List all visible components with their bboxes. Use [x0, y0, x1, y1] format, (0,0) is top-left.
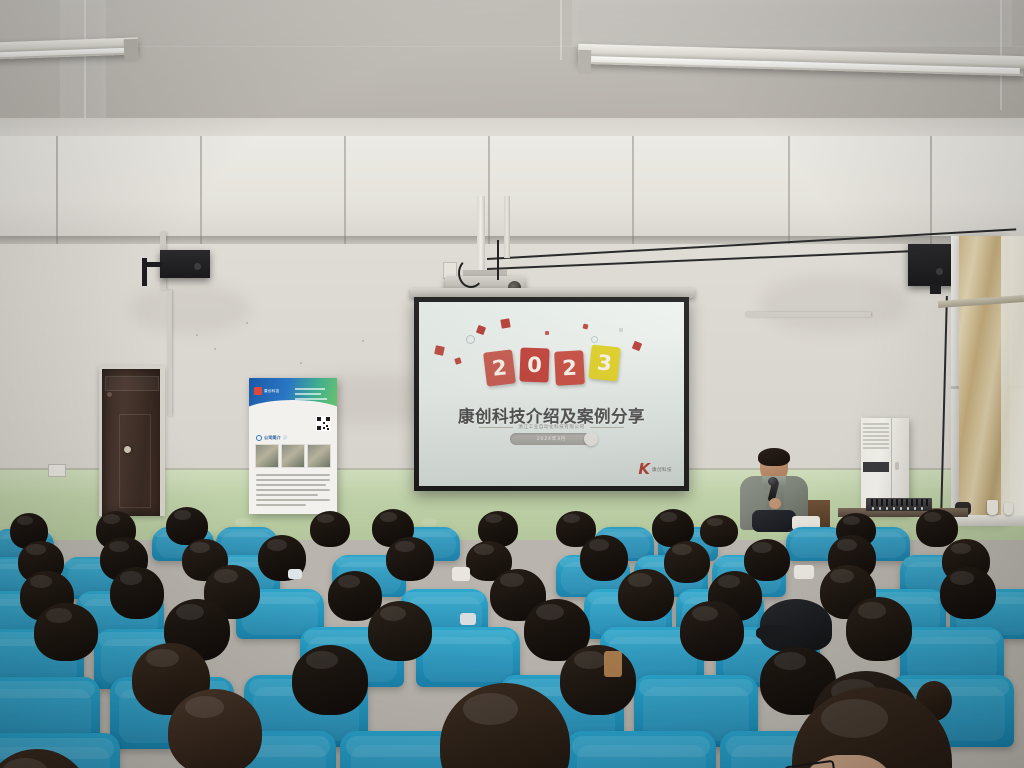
presenter-hair: [758, 448, 790, 466]
door-handle[interactable]: [124, 446, 131, 453]
ac-display-panel: [863, 462, 889, 472]
cap-brim: [756, 625, 794, 641]
year-tile-3: 3: [588, 345, 620, 382]
audience-head: [618, 569, 674, 621]
tube-left-end-cap: [124, 39, 139, 60]
banner-text-line: [256, 479, 330, 481]
wall-socket-left[interactable]: [48, 464, 66, 477]
logo-k-icon: K: [638, 462, 650, 477]
projection-screen-surface: 2 0 2 3 康创科技介绍及案例分享 浙江工业自动化科技有限公司 2024年3…: [419, 302, 684, 486]
projection-screen-frame: 2 0 2 3 康创科技介绍及案例分享 浙江工业自动化科技有限公司 2024年3…: [414, 297, 689, 491]
banner-photo-strip: [255, 444, 331, 468]
audience-head: [680, 601, 744, 661]
lecture-hall-photo: 2 0 2 3 康创科技介绍及案例分享 浙江工业自动化科技有限公司 2024年3…: [0, 0, 1024, 768]
confetti-square: [632, 341, 642, 351]
door-transom-panel: [105, 376, 159, 391]
audience-head: [916, 509, 958, 547]
audience-head: [940, 567, 996, 619]
slide-subtitle: 浙江工业自动化科技有限公司: [518, 424, 584, 430]
door-inset-panel: [119, 414, 151, 508]
banner-text-line: [256, 489, 330, 491]
chevron-right-icon: 〉〉〉: [283, 435, 289, 441]
banner-text-line: [256, 499, 330, 501]
confetti-square: [476, 325, 486, 335]
tube-right-end-cap: [578, 50, 592, 74]
wall-speaker-left: [160, 250, 210, 278]
audience-head: [34, 603, 98, 661]
audience-head: [110, 567, 164, 619]
subtitle-rule-left: [479, 427, 513, 428]
speaker-right-bracket: [930, 284, 941, 294]
slide-pill-knob: [584, 432, 598, 446]
banner-bullet-icon: [256, 435, 262, 441]
confetti-square: [500, 318, 510, 328]
audience-clothing-light: [460, 613, 476, 625]
audience-head: [846, 597, 912, 661]
microphone-head: [768, 477, 778, 486]
audience-head: [168, 689, 262, 768]
ac-vent-grill: [863, 423, 889, 449]
wall-speaker-right: [908, 244, 956, 286]
audience-clothing-light: [288, 569, 302, 579]
subtitle-rule-right: [590, 427, 624, 428]
banner-accent-line: [295, 388, 325, 390]
banner-photo: [307, 444, 331, 468]
projector-cable-loop: [458, 258, 484, 288]
banner-text-line: [256, 474, 330, 476]
banner-text-line: [256, 494, 318, 496]
confetti-circle: [466, 335, 475, 344]
banner-logo-text: 康创科技: [264, 389, 280, 394]
slide-subtitle-row: 浙江工业自动化科技有限公司: [419, 424, 684, 430]
wall-rail-right: [745, 312, 871, 317]
banner-section-title: 公司简介 〉〉〉: [256, 435, 289, 441]
ceiling-pipe: [504, 196, 510, 258]
banner-accent-line: [295, 393, 321, 395]
audience-head: [310, 511, 350, 547]
audience-head: [386, 537, 434, 581]
banner-photo: [281, 444, 305, 468]
audience-head: [700, 515, 738, 547]
confetti-square: [619, 328, 623, 332]
confetti-square: [545, 331, 549, 335]
wall-conduit-left: [167, 290, 172, 416]
audience-head: [664, 541, 710, 583]
confetti-square: [434, 345, 445, 356]
slide-company-logo: K 康创科技: [638, 462, 672, 477]
banner-text-line: [256, 484, 326, 486]
banner-logo-mark-icon: [254, 387, 262, 395]
slide-date-text: 2024年3月: [537, 436, 566, 442]
audience-head: [580, 535, 628, 581]
audience-head: [292, 645, 368, 715]
rollup-banner: 康创科技 公司简介 〉〉〉: [249, 378, 337, 514]
qr-code-icon: [316, 416, 331, 431]
projector-cable-run: [497, 240, 499, 280]
audience-head: [744, 539, 790, 581]
slide-date-pill: 2024年3月: [510, 433, 594, 445]
audience-clothing-light: [604, 651, 622, 677]
logo-company-name: 康创科技: [652, 467, 672, 473]
banner-accent-line: [295, 398, 327, 400]
audience-seating-area: [0, 505, 1024, 768]
audience-head: [368, 601, 432, 661]
window-sheer-curtain[interactable]: [1001, 236, 1024, 526]
banner-section-label: 公司简介: [264, 435, 281, 441]
ac-control-knob[interactable]: [895, 462, 899, 470]
year-tile-0: 2: [483, 349, 516, 386]
confetti-square: [582, 323, 588, 329]
banner-photo: [255, 444, 279, 468]
confetti-square: [454, 357, 462, 365]
speaker-left-post: [142, 258, 147, 286]
audience-clothing-light: [452, 567, 470, 581]
door-peephole: [107, 392, 112, 397]
audience-clothing-light: [794, 565, 814, 579]
ceiling-soffit-panels: [0, 136, 1024, 244]
banner-logo: 康创科技: [254, 387, 280, 395]
year-tile-2: 2: [554, 350, 585, 385]
confetti-circle: [591, 336, 598, 343]
audience-head: [560, 645, 636, 715]
year-tile-1: 0: [519, 348, 549, 383]
seat[interactable]: [566, 731, 716, 768]
